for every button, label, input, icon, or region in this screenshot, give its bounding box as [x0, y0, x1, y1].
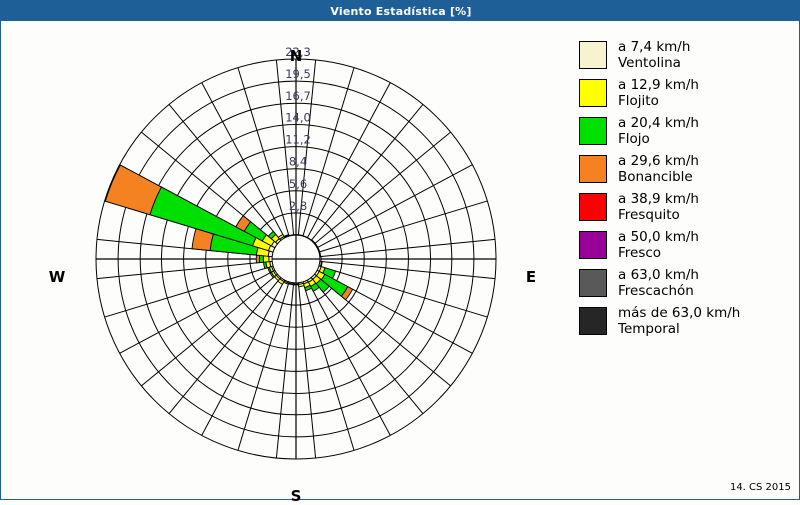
legend-swatch [579, 307, 607, 335]
legend-label: a 63,0 km/hFrescachón [618, 267, 699, 299]
radial-tick-label: 19,5 [285, 67, 311, 81]
legend-label-speed: a 20,4 km/h [618, 115, 699, 131]
legend-label-name: Frescachón [618, 283, 699, 299]
legend-label-speed: a 38,9 km/h [618, 191, 699, 207]
legend-label: a 29,6 km/hBonancible [618, 153, 699, 185]
legend-item[interactable]: a 29,6 km/hBonancible [579, 153, 794, 185]
legend-label: a 12,9 km/hFlojito [618, 77, 699, 109]
legend-label-name: Temporal [618, 321, 740, 337]
legend-label-name: Flojito [618, 93, 699, 109]
wind-rose-window: Viento Estadística [%] 2,85,68,411,214,0… [0, 0, 800, 500]
legend-item[interactable]: a 63,0 km/hFrescachón [579, 267, 794, 299]
legend-label-speed: más de 63,0 km/h [618, 305, 740, 321]
compass-label-west: W [37, 268, 77, 286]
legend-item[interactable]: más de 63,0 km/hTemporal [579, 305, 794, 337]
radial-tick-label: 2,8 [289, 199, 307, 213]
legend-swatch [579, 269, 607, 297]
legend-swatch [579, 231, 607, 259]
legend-swatch [579, 79, 607, 107]
wind-rose-svg: 2,85,68,411,214,016,719,522,3 [1, 21, 567, 499]
legend-label-speed: a 12,9 km/h [618, 77, 699, 93]
legend-label-name: Fresquito [618, 207, 699, 223]
window-title-bar: Viento Estadística [%] [1, 1, 800, 21]
wind-rose-segment [315, 243, 318, 247]
legend-label-name: Fresco [618, 245, 699, 261]
wind-rose-segment [259, 255, 263, 262]
wind-rose-segment [294, 235, 299, 236]
wind-rose-segment [317, 247, 320, 252]
legend-label-speed: a 29,6 km/h [618, 153, 699, 169]
wind-rose-segment [299, 283, 305, 286]
legend-label: a 38,9 km/hFresquito [618, 191, 699, 223]
legend-label-speed: a 63,0 km/h [618, 267, 699, 283]
wind-rose-segment [263, 256, 269, 262]
legend-label-name: Bonancible [618, 169, 699, 185]
compass-label-south: S [276, 487, 316, 505]
legend-label-name: Flojo [618, 131, 699, 147]
legend-swatch [579, 155, 607, 183]
legend-item[interactable]: a 38,9 km/hFresquito [579, 191, 794, 223]
wind-rose-segment [293, 284, 298, 285]
compass-label-north: N [276, 47, 316, 65]
radial-tick-label: 11,2 [285, 133, 311, 147]
wind-rose-chart: 2,85,68,411,214,016,719,522,3 N E S W [1, 21, 567, 499]
wind-rose-segment [320, 257, 321, 262]
legend-item[interactable]: a 20,4 km/hFlojo [579, 115, 794, 147]
wind-rose-segment [307, 237, 311, 240]
radial-tick-label: 14,0 [285, 111, 311, 125]
legend-label: a 20,4 km/hFlojo [618, 115, 699, 147]
radial-tick-label: 16,7 [285, 89, 311, 103]
legend-item[interactable]: a 7,4 km/hVentolina [579, 39, 794, 71]
legend-item[interactable]: a 12,9 km/hFlojito [579, 77, 794, 109]
legend-item[interactable]: a 50,0 km/hFresco [579, 229, 794, 261]
legend-swatch [579, 193, 607, 221]
page-title: Viento Estadística [%] [330, 5, 471, 18]
legend: a 7,4 km/hVentolinaa 12,9 km/hFlojitoa 2… [579, 39, 794, 343]
legend-label: más de 63,0 km/hTemporal [618, 305, 740, 337]
footer-credit: 14. CS 2015 [730, 482, 791, 493]
legend-label: a 50,0 km/hFresco [618, 229, 699, 261]
legend-label-name: Ventolina [618, 55, 690, 71]
legend-label: a 7,4 km/hVentolina [618, 39, 690, 71]
radial-tick-labels: 2,85,68,411,214,016,719,522,3 [285, 45, 311, 213]
legend-label-speed: a 50,0 km/h [618, 229, 699, 245]
wind-rose-segment [256, 255, 259, 263]
wind-rose-segment [289, 235, 294, 236]
compass-label-east: E [511, 268, 551, 286]
panel-divider [567, 22, 568, 478]
radial-tick-label: 8,4 [289, 155, 307, 169]
legend-label-speed: a 7,4 km/h [618, 39, 690, 55]
wind-rose-segment [319, 252, 321, 257]
legend-swatch [579, 41, 607, 69]
legend-swatch [579, 117, 607, 145]
radial-tick-label: 5,6 [289, 177, 307, 191]
wind-rose-segment [298, 235, 303, 236]
